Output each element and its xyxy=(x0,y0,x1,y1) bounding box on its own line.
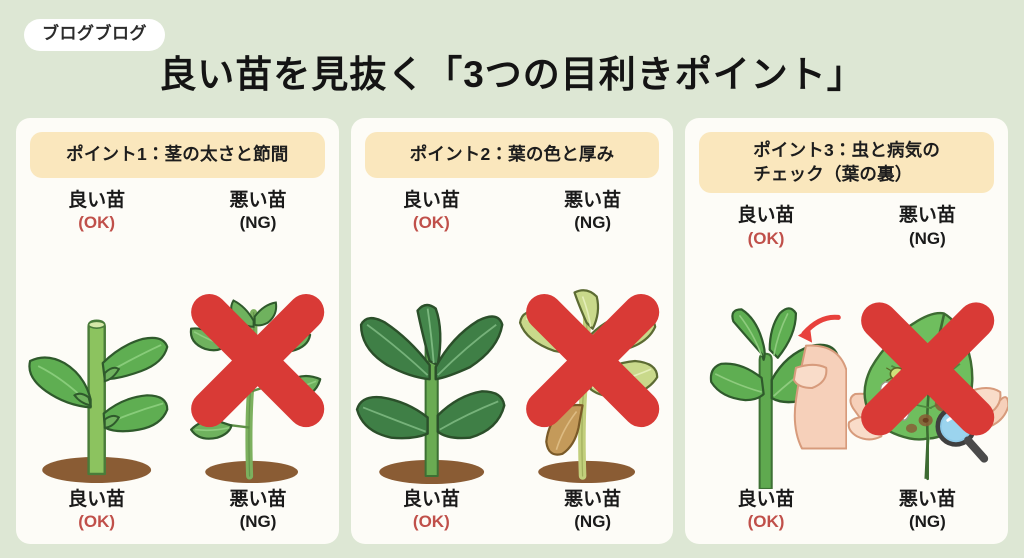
hand-flipping-clean-leaf-illustration xyxy=(685,249,846,489)
point-card-1-columns: 良い苗 (OK) xyxy=(16,178,339,544)
point-card-2-bad-top-label: 悪い苗 (NG) xyxy=(564,190,621,233)
label-sub-ok: (OK) xyxy=(403,512,460,532)
blog-badge: ブログブログ xyxy=(24,19,165,51)
point-card-1-bad-column: 悪い苗 (NG) xyxy=(177,178,338,544)
thin-leggy-seedling-illustration xyxy=(177,233,338,488)
point-card-2: ポイント2：葉の色と厚み 良い苗 (OK) xyxy=(351,118,674,544)
page-header: ブログブログ 良い苗を見抜く「3つの目利きポイント」 xyxy=(0,0,1024,115)
red-x-mark-icon xyxy=(847,249,1008,489)
point-card-1-header: ポイント1：茎の太さと節間 xyxy=(30,132,325,178)
red-x-mark-icon xyxy=(177,233,338,488)
label-main: 良い苗 xyxy=(68,190,125,212)
label-sub-ng: (NG) xyxy=(230,213,287,233)
label-sub-ok: (OK) xyxy=(738,512,795,532)
point-card-3-good-column: 良い苗 (OK) xyxy=(685,193,846,544)
point-card-2-good-top-label: 良い苗 (OK) xyxy=(403,190,460,233)
point-card-3-good-bottom-label: 良い苗 (OK) xyxy=(738,489,795,532)
pest-damaged-leaf-underside-illustration xyxy=(847,249,1008,489)
points-card-row: ポイント1：茎の太さと節間 良い苗 (OK) xyxy=(0,118,1024,558)
label-main: 悪い苗 xyxy=(899,205,956,227)
point-card-2-good-bottom-label: 良い苗 (OK) xyxy=(403,489,460,532)
label-sub-ok: (OK) xyxy=(403,213,460,233)
label-sub-ng: (NG) xyxy=(564,512,621,532)
point-card-3-columns: 良い苗 (OK) xyxy=(685,193,1008,544)
label-main: 良い苗 xyxy=(403,489,460,511)
label-sub-ok: (OK) xyxy=(738,229,795,249)
label-sub-ng: (NG) xyxy=(899,512,956,532)
point-card-1-bad-top-label: 悪い苗 (NG) xyxy=(230,190,287,233)
label-main: 良い苗 xyxy=(738,205,795,227)
point-card-1-good-top-label: 良い苗 (OK) xyxy=(68,190,125,233)
point-card-1-good-column: 良い苗 (OK) xyxy=(16,178,177,544)
point-card-3-bad-top-label: 悪い苗 (NG) xyxy=(899,205,956,248)
point-card-3-bad-bottom-label: 悪い苗 (NG) xyxy=(899,489,956,532)
point-card-1: ポイント1：茎の太さと節間 良い苗 (OK) xyxy=(16,118,339,544)
label-main: 悪い苗 xyxy=(899,489,956,511)
point-card-2-bad-column: 悪い苗 (NG) xyxy=(512,178,673,544)
point-card-3-header: ポイント3：虫と病気の チェック（葉の裏） xyxy=(699,132,994,193)
point-card-2-columns: 良い苗 (OK) xyxy=(351,178,674,544)
point-card-1-bad-bottom-label: 悪い苗 (NG) xyxy=(230,489,287,532)
label-main: 悪い苗 xyxy=(230,489,287,511)
label-main: 悪い苗 xyxy=(230,190,287,212)
point-card-2-header: ポイント2：葉の色と厚み xyxy=(365,132,660,178)
pale-yellow-wilting-leaves-illustration xyxy=(512,233,673,488)
point-card-2-good-column: 良い苗 (OK) xyxy=(351,178,512,544)
point-card-2-bad-bottom-label: 悪い苗 (NG) xyxy=(564,489,621,532)
label-sub-ng: (NG) xyxy=(564,213,621,233)
label-main: 良い苗 xyxy=(403,190,460,212)
point-card-3-bad-column: 悪い苗 (NG) xyxy=(847,193,1008,544)
label-main: 良い苗 xyxy=(738,489,795,511)
label-sub-ng: (NG) xyxy=(899,229,956,249)
label-main: 良い苗 xyxy=(68,489,125,511)
point-card-2-heading: ポイント2：葉の色と厚み xyxy=(410,143,615,167)
red-x-mark-icon xyxy=(512,233,673,488)
point-card-3-good-top-label: 良い苗 (OK) xyxy=(738,205,795,248)
label-main: 悪い苗 xyxy=(564,190,621,212)
point-card-1-good-bottom-label: 良い苗 (OK) xyxy=(68,489,125,532)
point-card-3: ポイント3：虫と病気の チェック（葉の裏） 良い苗 (OK) xyxy=(685,118,1008,544)
dark-green-thick-leaves-illustration xyxy=(351,233,512,488)
label-sub-ng: (NG) xyxy=(230,512,287,532)
thick-stem-seedling-illustration xyxy=(16,233,177,488)
label-sub-ok: (OK) xyxy=(68,512,125,532)
point-card-3-heading: ポイント3：虫と病気の チェック（葉の裏） xyxy=(753,139,940,186)
label-main: 悪い苗 xyxy=(564,489,621,511)
page-title: 良い苗を見抜く「3つの目利きポイント」 xyxy=(0,54,1024,97)
point-card-1-heading: ポイント1：茎の太さと節間 xyxy=(66,143,288,167)
label-sub-ok: (OK) xyxy=(68,213,125,233)
